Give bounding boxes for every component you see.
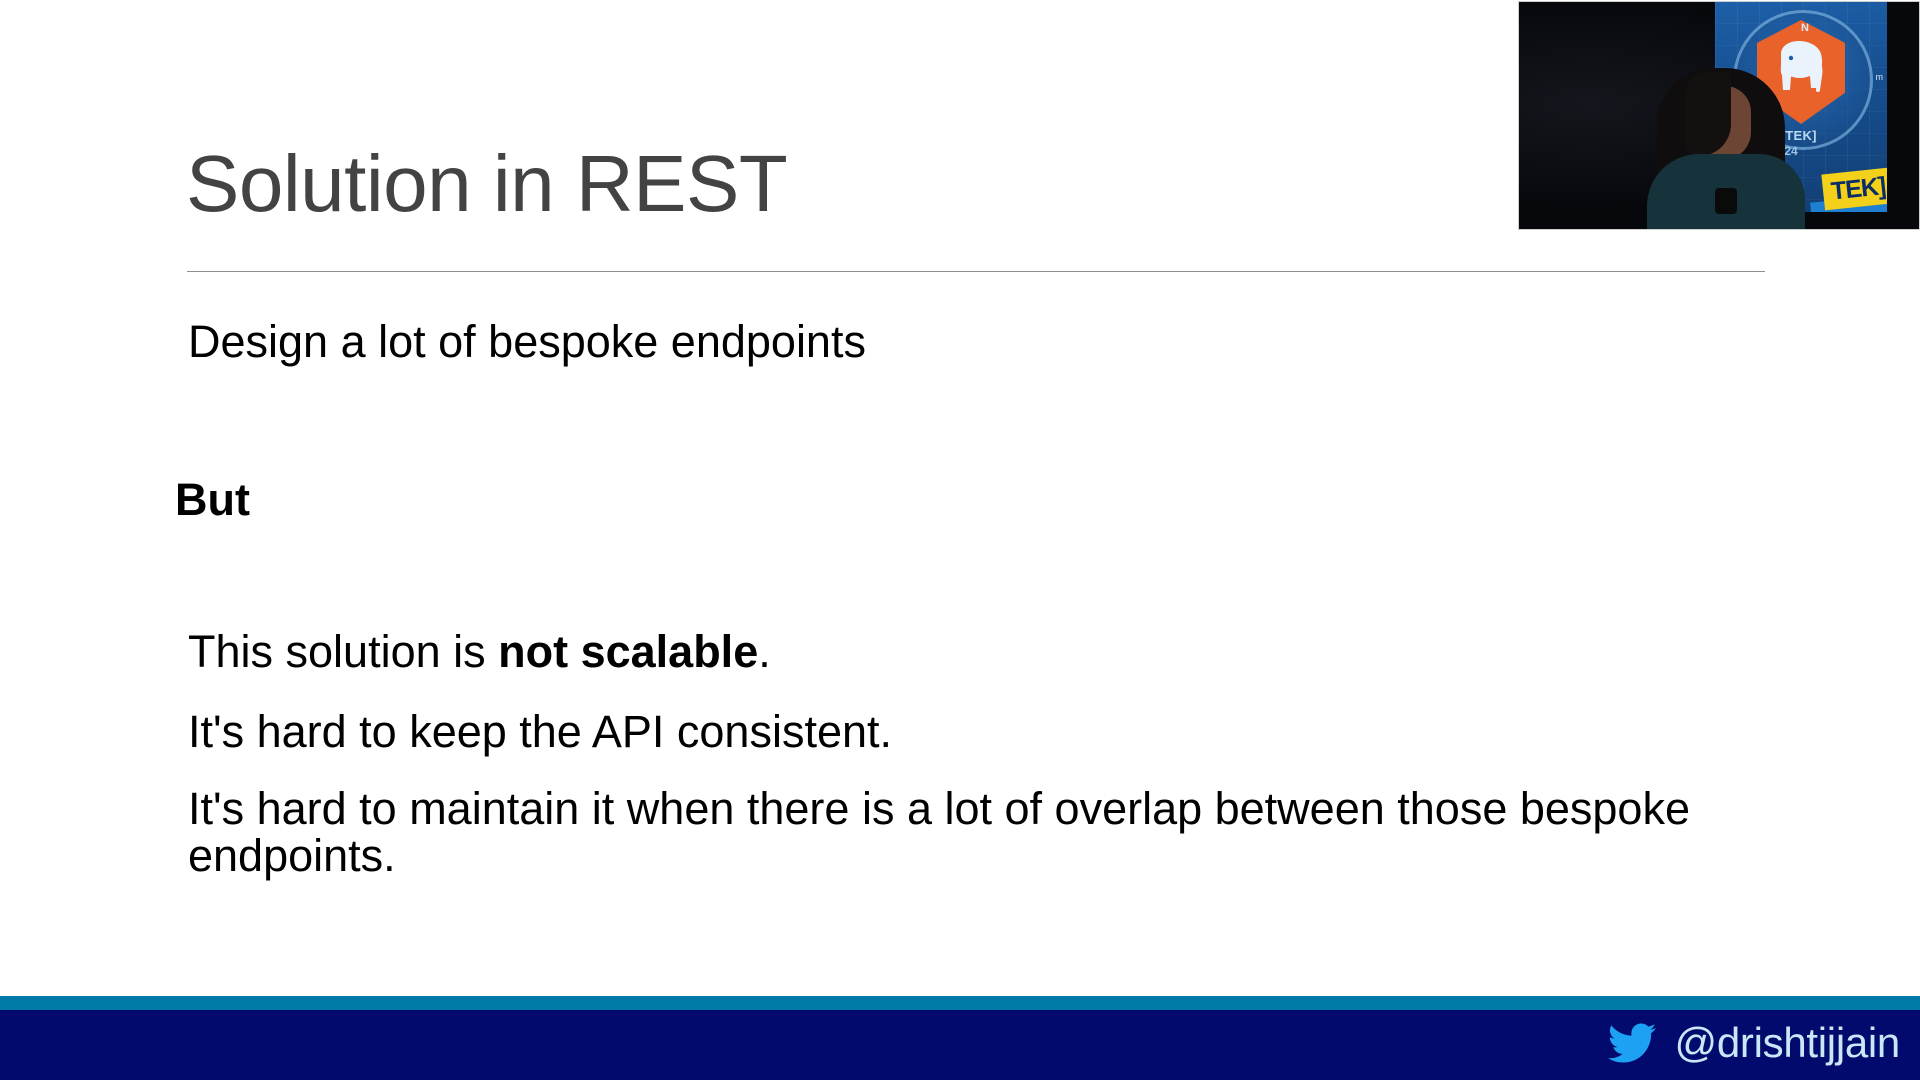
speaker-video-overlay[interactable]: N m PHP[TEK] 2024 TEK] [1518,1,1920,230]
compass-east-label: m [1876,72,1884,82]
speaker-hair-front [1685,72,1731,156]
twitter-bird-icon[interactable] [1603,1019,1661,1067]
footer-accent-strip [0,996,1920,1010]
body-line-but: But [175,475,250,525]
compass-north-label: N [1801,22,1809,34]
presentation-slide: Solution in REST Design a lot of bespoke… [0,0,1920,1080]
point1-emphasis: not scalable [498,626,758,677]
point1-suffix: . [758,626,771,677]
presenter-clicker [1715,188,1737,214]
banner-sign-text: TEK] [1830,172,1887,207]
social-handle-group[interactable]: @drishtijjain [1603,1019,1900,1067]
body-line-api-consistent: It's hard to keep the API consistent. [188,707,892,757]
elephant-logo-icon [1767,36,1837,102]
page-title: Solution in REST [186,142,787,226]
twitter-handle-text[interactable]: @drishtijjain [1675,1022,1900,1064]
body-line-not-scalable: This solution is not scalable. [188,627,771,677]
point1-prefix: This solution is [188,626,498,677]
body-line-intro: Design a lot of bespoke endpoints [188,317,866,367]
title-divider [187,271,1765,272]
body-line-overlap: It's hard to maintain it when there is a… [188,785,1718,880]
